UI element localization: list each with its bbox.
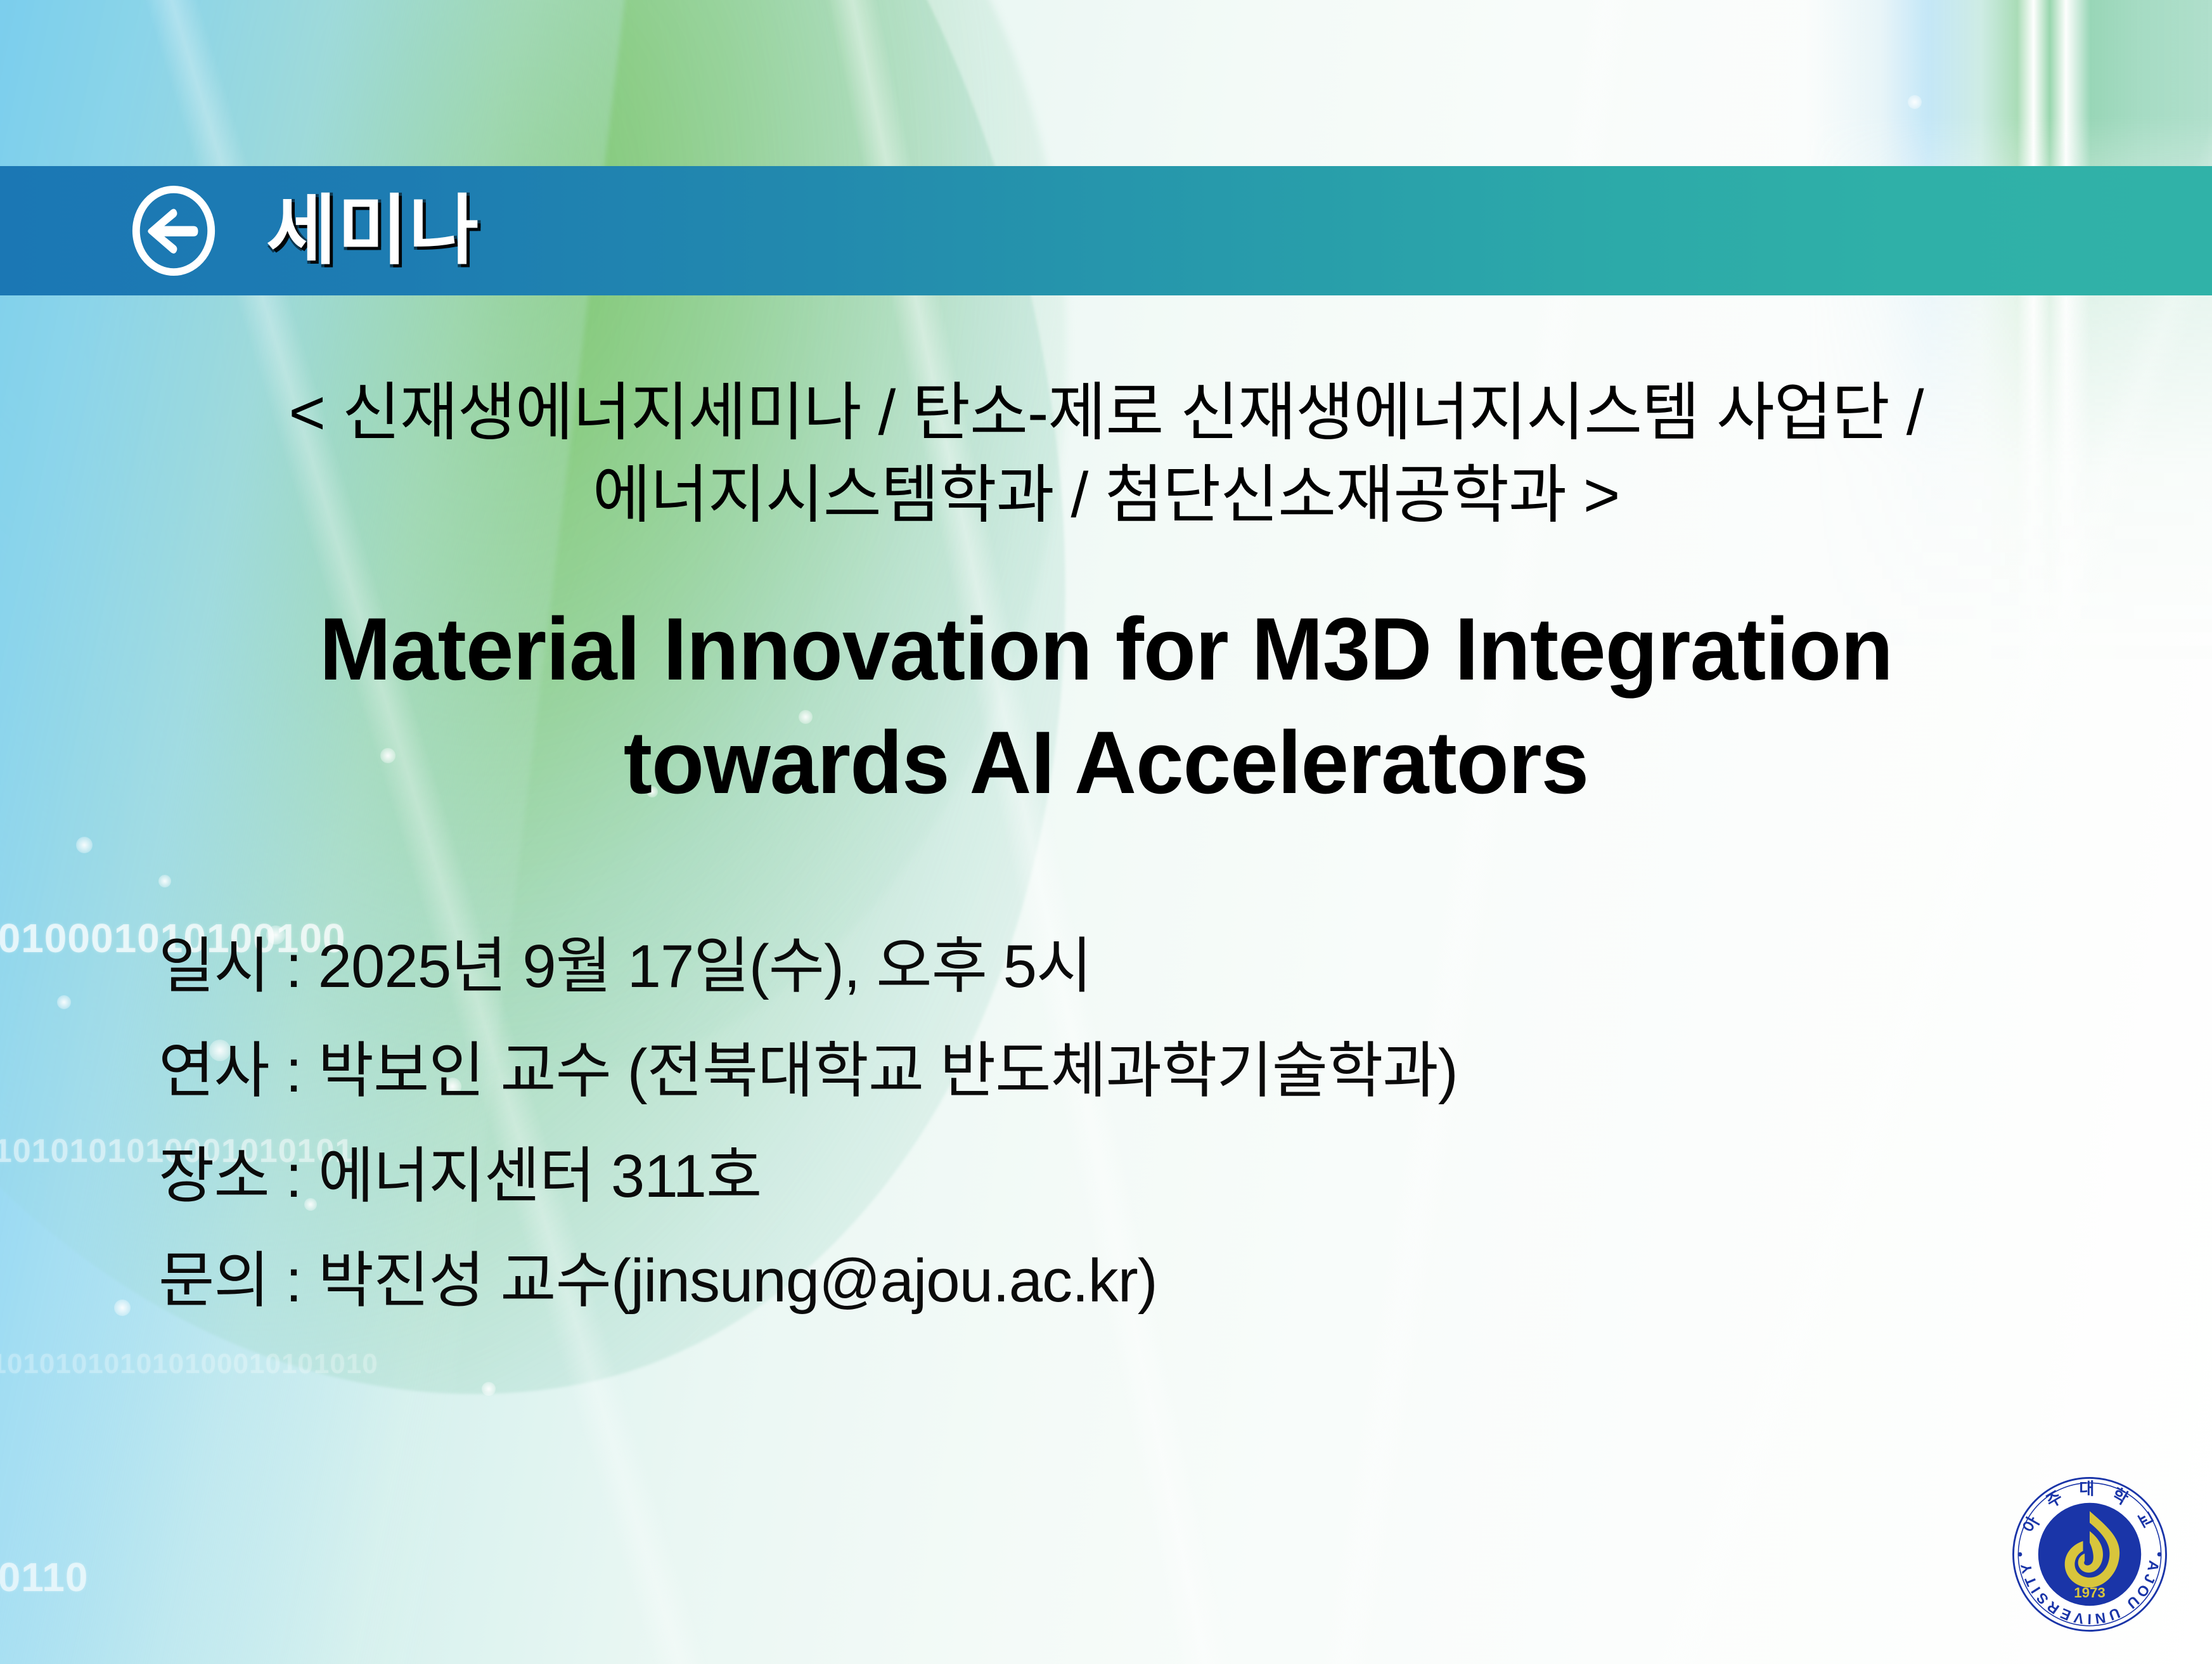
seminar-details: 일시 : 2025년 9월 17일(수), 오후 5시 연사 : 박보인 교수 … <box>158 914 2212 1332</box>
seminar-poster: 1010001010100100 01010101010001010101 01… <box>0 0 2212 1664</box>
subtitle-line-1: < 신재생에너지세미나 / 탄소-제로 신재생에너지시스템 사업단 / <box>168 371 2044 454</box>
seminar-title-line-2: towards AI Accelerators <box>165 706 2047 819</box>
subtitle-block: < 신재생에너지세미나 / 탄소-제로 신재생에너지시스템 사업단 / 에너지시… <box>168 371 2044 536</box>
subtitle-line-2: 에너지시스템학과 / 첨단신소재공학과 > <box>168 454 2044 536</box>
circle-back-arrow-icon[interactable] <box>127 184 221 278</box>
poster-content: < 신재생에너지세미나 / 탄소-제로 신재생에너지시스템 사업단 / 에너지시… <box>0 295 2212 1333</box>
seminar-title-line-1: Material Innovation for M3D Integration <box>165 592 2047 706</box>
header-title: 세미나 <box>266 193 480 269</box>
detail-speaker: 연사 : 박보인 교수 (전북대학교 반도체과학기술학과) <box>158 1019 2212 1123</box>
ajou-university-logo: 아 주 대 학 교 AJOU UNIVERSITY 1973 <box>2007 1471 2173 1637</box>
header-bar: 세미나 <box>0 166 2212 295</box>
seminar-title: Material Innovation for M3D Integration … <box>165 592 2047 819</box>
detail-contact: 문의 : 박진성 교수(jinsung@ajou.ac.kr) <box>158 1229 2212 1333</box>
detail-venue: 장소 : 에너지센터 311호 <box>158 1124 2212 1229</box>
logo-year: 1973 <box>2074 1585 2106 1601</box>
detail-datetime: 일시 : 2025년 9월 17일(수), 오후 5시 <box>158 914 2212 1019</box>
